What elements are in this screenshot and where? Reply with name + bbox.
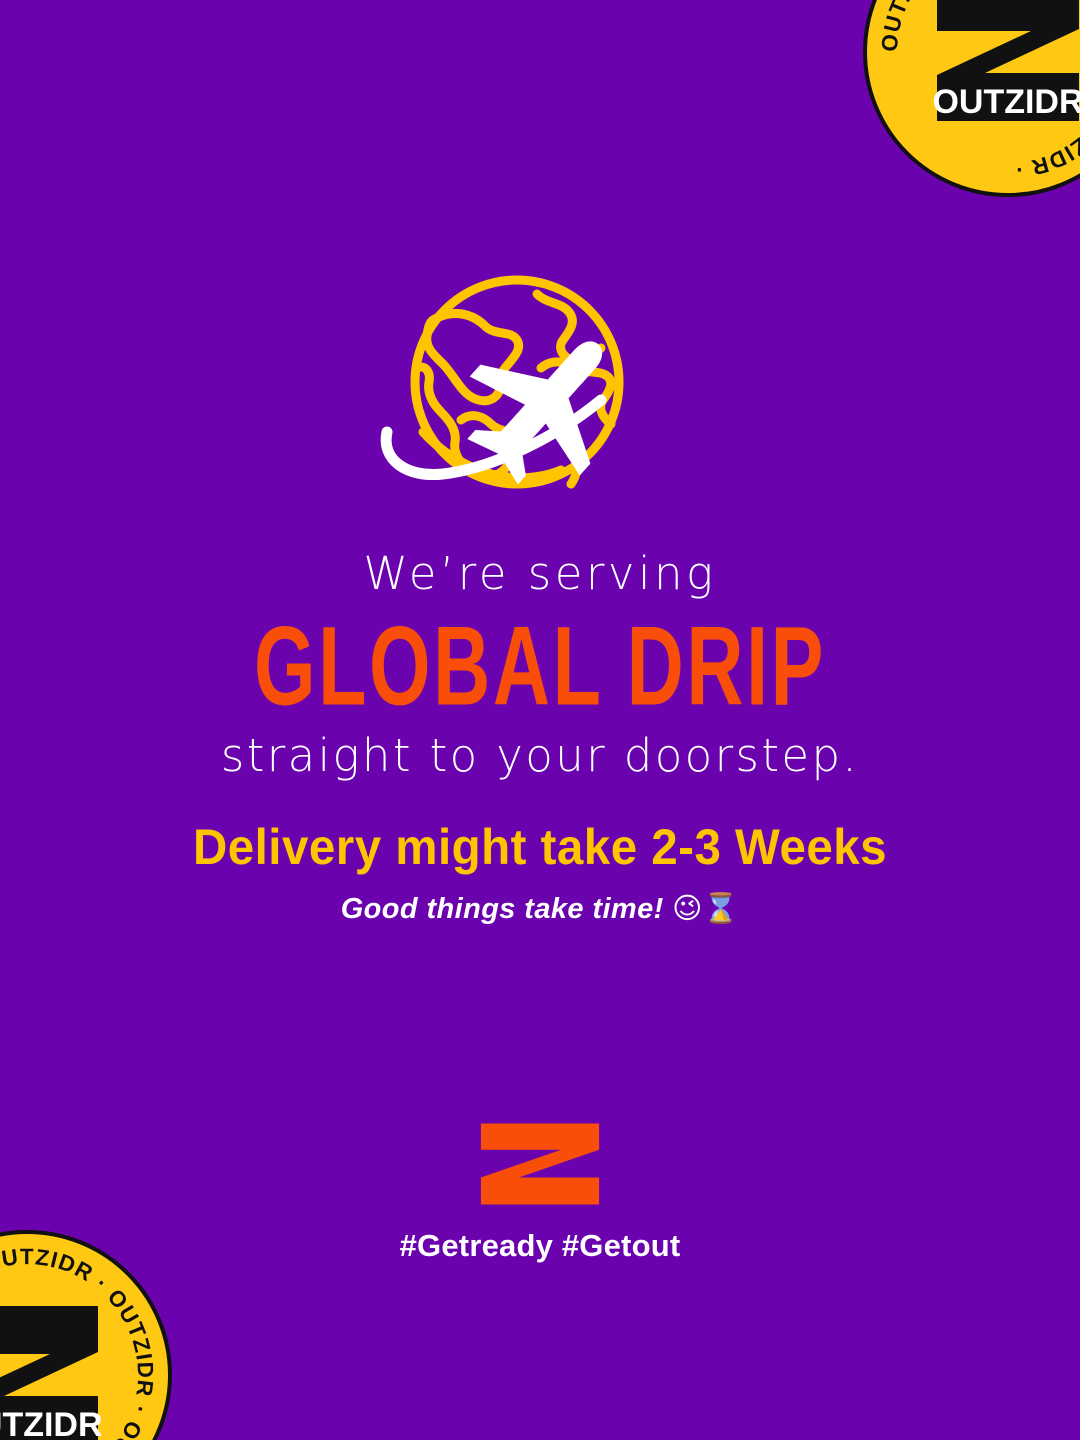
outzidr-z-logo xyxy=(478,1122,602,1206)
globe-airplane-icon xyxy=(365,272,715,504)
delivery-notice-block: Delivery might take 2-3 Weeks Good thing… xyxy=(0,820,1080,926)
wink-hourglass-emoji: 😉⌛ xyxy=(672,891,739,925)
delivery-reassurance: Good things take time! 😉⌛ xyxy=(0,891,1080,926)
outzidr-badge-top-right: OUTZIDR · OUTZIDR · OUTZIDR · OUTZIDR · … xyxy=(863,0,1080,197)
headline-block: We’re serving GLOBAL DRIP straight to yo… xyxy=(0,548,1080,782)
z-glyph-icon xyxy=(478,1122,602,1206)
page-title: GLOBAL DRIP xyxy=(76,608,1005,726)
globe-airplane-svg xyxy=(365,272,715,504)
promo-poster: OUTZIDR · OUTZIDR · OUTZIDR · OUTZIDR · … xyxy=(0,0,1080,1440)
badge-center-word: OUTZIDR xyxy=(0,1408,112,1440)
z-mark: OUTZIDR xyxy=(923,0,1080,127)
outzidr-badge-bottom-left: OUTZIDR · OUTZIDR · OUTZIDR · OUTZIDR · … xyxy=(0,1230,172,1440)
delivery-timeframe: Delivery might take 2-3 Weeks xyxy=(27,820,1053,875)
headline-eyebrow: We’re serving xyxy=(0,548,1080,600)
z-mark: OUTZIDR xyxy=(0,1300,112,1440)
badge-center-logo: OUTZIDR xyxy=(923,0,1080,127)
badge-center-word: OUTZIDR xyxy=(923,85,1080,119)
reassurance-text: Good things take time! xyxy=(341,893,664,925)
badge-center-logo: OUTZIDR xyxy=(0,1300,112,1440)
headline-subtitle: straight to your doorstep. xyxy=(0,730,1080,782)
